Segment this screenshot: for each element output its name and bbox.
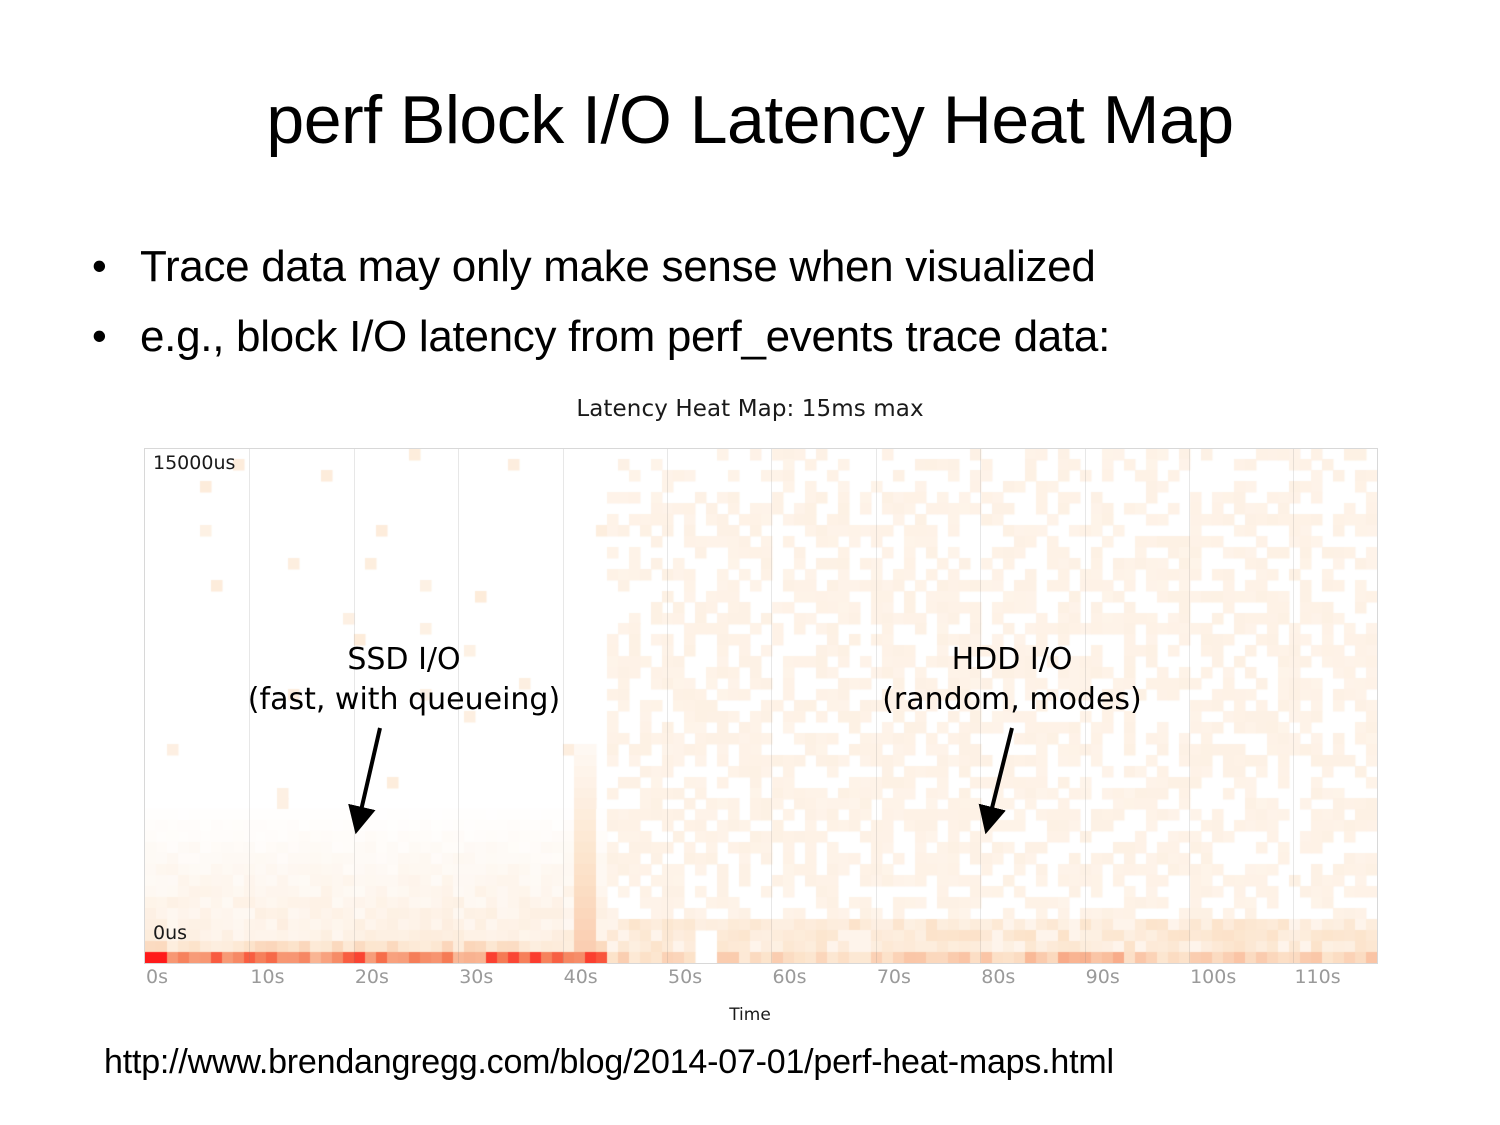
bullet-marker-icon: • <box>78 310 140 362</box>
x-tick-label: 50s <box>668 966 702 988</box>
x-axis-label: Time <box>0 1005 1500 1025</box>
x-tick-label: 90s <box>1086 966 1120 988</box>
x-tick-label: 20s <box>355 966 389 988</box>
x-tick-label: 10s <box>250 966 284 988</box>
x-tick-label: 0s <box>146 966 168 988</box>
x-tick-label: 110s <box>1294 966 1340 988</box>
latency-heatmap-figure: Latency Heat Map: 15ms max 15000us 0us 0… <box>0 396 1500 1046</box>
bullet-marker-icon: • <box>78 240 140 292</box>
heatmap-plot-area: 15000us 0us <box>144 448 1378 964</box>
x-tick-label: 100s <box>1190 966 1236 988</box>
x-tick-label: 70s <box>877 966 911 988</box>
bullet-list: • Trace data may only make sense when vi… <box>78 240 1418 380</box>
page-title: perf Block I/O Latency Heat Map <box>0 86 1500 154</box>
x-tick-label: 30s <box>459 966 493 988</box>
list-item: • Trace data may only make sense when vi… <box>78 240 1418 294</box>
x-tick-label: 60s <box>772 966 806 988</box>
x-tick-label: 80s <box>981 966 1015 988</box>
source-url: http://www.brendangregg.com/blog/2014-07… <box>104 1043 1114 1082</box>
bullet-text: Trace data may only make sense when visu… <box>140 240 1418 294</box>
bullet-text: e.g., block I/O latency from perf_events… <box>140 310 1418 364</box>
y-axis-min-label: 0us <box>153 922 187 944</box>
y-axis-max-label: 15000us <box>153 452 235 474</box>
heatmap-canvas <box>145 449 1377 963</box>
list-item: • e.g., block I/O latency from perf_even… <box>78 310 1418 364</box>
x-tick-label: 40s <box>564 966 598 988</box>
x-axis-ticks: 0s10s20s30s40s50s60s70s80s90s100s110s <box>144 966 1376 996</box>
chart-title: Latency Heat Map: 15ms max <box>0 396 1500 422</box>
